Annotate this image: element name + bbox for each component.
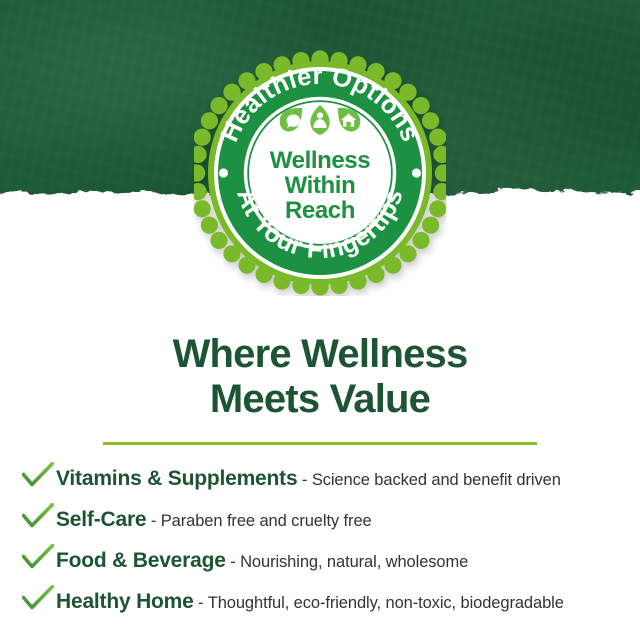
list-item-dash: - bbox=[297, 471, 311, 489]
check-icon bbox=[22, 462, 56, 488]
page-title: Where Wellness Meets Value bbox=[0, 332, 640, 422]
list-item-text: Healthy Home - Thoughtful, eco-friendly,… bbox=[56, 591, 564, 612]
badge-dot-left bbox=[219, 168, 228, 177]
wellness-badge: Healthier Options At Your Fingertips bbox=[194, 50, 446, 296]
list-item-dash: - bbox=[146, 512, 160, 530]
section-divider bbox=[103, 442, 537, 445]
list-item-description: Science backed and benefit driven bbox=[312, 471, 561, 489]
list-item-label: Vitamins & Supplements bbox=[56, 467, 297, 490]
headline-line-2: Meets Value bbox=[0, 377, 640, 422]
list-item-text: Self-Care - Paraben free and cruelty fre… bbox=[56, 509, 372, 530]
list-item-label: Self-Care bbox=[56, 508, 146, 531]
check-icon bbox=[22, 585, 56, 611]
check-icon bbox=[22, 544, 56, 570]
list-item: Food & Beverage - Nourishing, natural, w… bbox=[22, 541, 636, 582]
list-item-description: Nourishing, natural, wholesome bbox=[240, 553, 468, 571]
check-icon bbox=[22, 503, 56, 529]
badge-icon-row bbox=[194, 102, 446, 138]
list-item-label: Food & Beverage bbox=[56, 549, 226, 572]
list-item-text: Food & Beverage - Nourishing, natural, w… bbox=[56, 550, 468, 571]
list-item-dash: - bbox=[226, 553, 240, 571]
list-item-dash: - bbox=[194, 594, 208, 612]
badge-dot-right bbox=[412, 168, 421, 177]
list-item: Vitamins & Supplements - Science backed … bbox=[22, 459, 636, 500]
list-item-label: Healthy Home bbox=[56, 590, 194, 613]
house-leaf-icon bbox=[335, 105, 363, 135]
benefits-list: Vitamins & Supplements - Science backed … bbox=[22, 459, 636, 623]
list-item-description: Thoughtful, eco-friendly, non-toxic, bio… bbox=[208, 594, 564, 612]
list-item: Healthy Home - Thoughtful, eco-friendly,… bbox=[22, 582, 636, 623]
headline-line-1: Where Wellness bbox=[173, 332, 468, 376]
face-leaf-icon bbox=[277, 105, 305, 135]
meditation-leaf-icon bbox=[306, 104, 334, 136]
list-item: Self-Care - Paraben free and cruelty fre… bbox=[22, 500, 636, 541]
list-item-description: Paraben free and cruelty free bbox=[161, 512, 372, 530]
list-item-text: Vitamins & Supplements - Science backed … bbox=[56, 468, 561, 489]
promo-banner-root: Healthier Options At Your Fingertips bbox=[0, 0, 640, 640]
